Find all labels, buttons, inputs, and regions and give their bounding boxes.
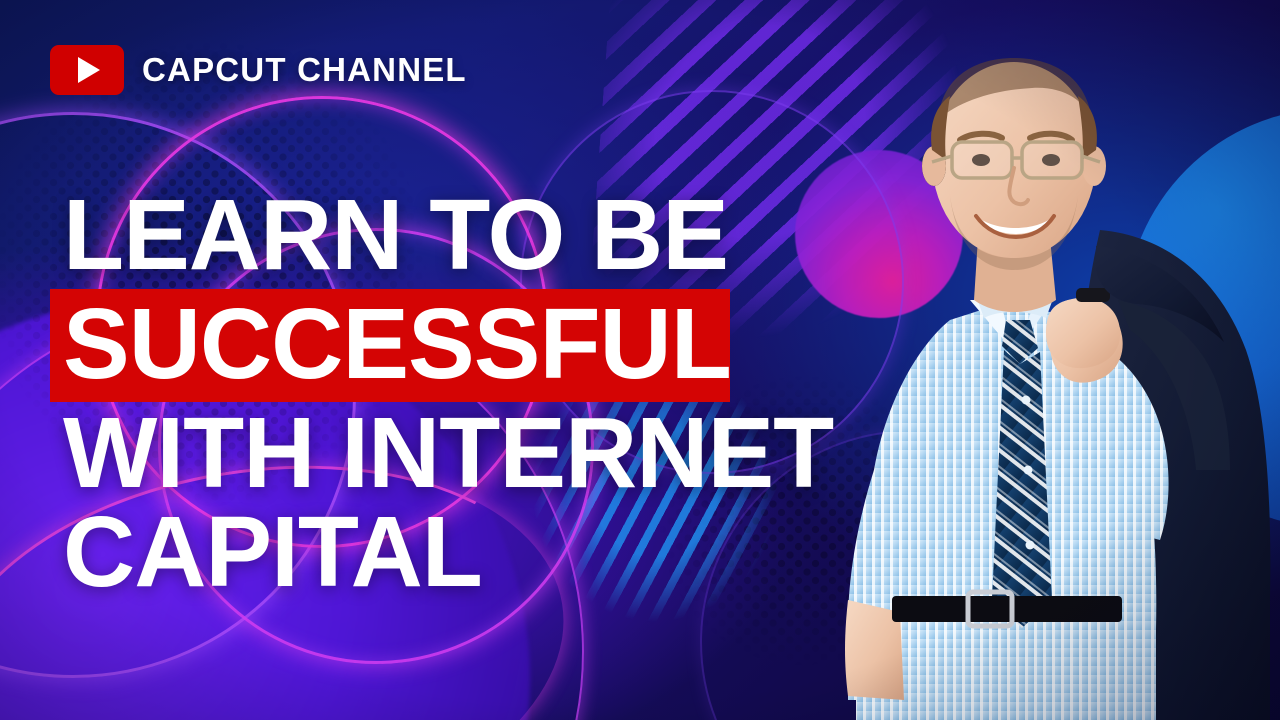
shirt-button [1024, 466, 1033, 475]
headline-block: LEARN TO BE SUCCESSFUL WITH INTERNET CAP… [63, 186, 863, 602]
play-triangle-icon [78, 57, 100, 83]
channel-header: CAPCUT CHANNEL [50, 45, 467, 95]
headline-line-2: SUCCESSFUL [63, 295, 730, 394]
shirt-button [1022, 396, 1031, 405]
headline-line-3: WITH INTERNET [63, 404, 863, 503]
right-hand [1046, 298, 1120, 368]
subject-photo [800, 0, 1280, 720]
youtube-play-icon[interactable] [50, 45, 124, 95]
headline-line-1: LEARN TO BE [63, 186, 863, 285]
headline-highlight-bar: SUCCESSFUL [50, 289, 730, 402]
wristwatch [1076, 288, 1110, 302]
shirt-button [1026, 541, 1035, 550]
thumbnail-canvas: CAPCUT CHANNEL LEARN TO BE SUCCESSFUL WI… [0, 0, 1280, 720]
belt [892, 596, 1122, 622]
lens-right [1024, 144, 1080, 176]
lens-left [954, 144, 1010, 176]
channel-name-label: CAPCUT CHANNEL [142, 51, 467, 89]
headline-line-4: CAPITAL [63, 503, 863, 602]
